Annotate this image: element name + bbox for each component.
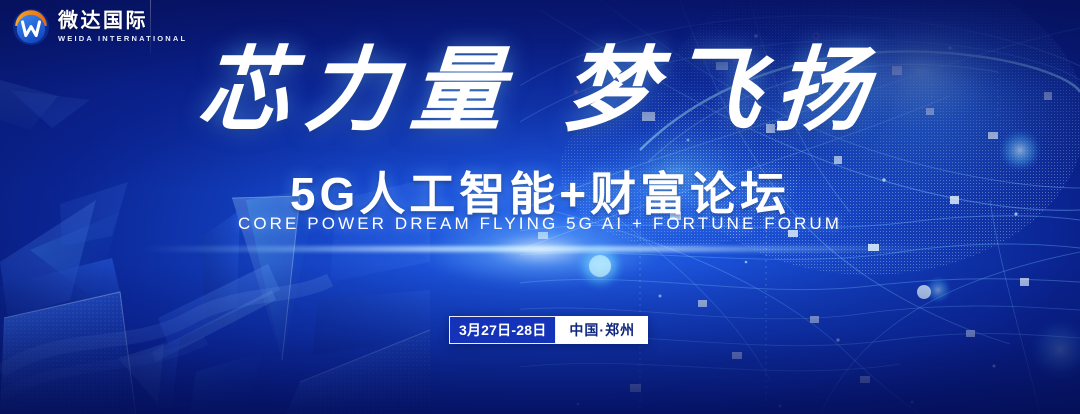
event-banner: 微达国际 WEIDA INTERNATIONAL 芯力量 梦飞扬 5G人工智能+… [0, 0, 1080, 414]
brand-logo-text: 微达国际 WEIDA INTERNATIONAL [58, 11, 187, 43]
tagline-block: CORE POWER DREAM FLYING 5G AI + FORTUNE … [0, 214, 1080, 234]
weida-circular-logo-icon [12, 8, 50, 46]
brand-name-cn: 微达国际 [58, 11, 187, 32]
tagline-text: CORE POWER DREAM FLYING 5G AI + FORTUNE … [238, 214, 842, 234]
event-info-badge: 3月27日-28日 中国·郑州 [449, 316, 648, 344]
event-location: 中国·郑州 [556, 316, 648, 344]
brand-name-en: WEIDA INTERNATIONAL [58, 34, 187, 43]
brand-logo[interactable]: 微达国际 WEIDA INTERNATIONAL [12, 8, 187, 46]
event-date: 3月27日-28日 [449, 316, 556, 344]
logo-divider [150, 0, 151, 54]
